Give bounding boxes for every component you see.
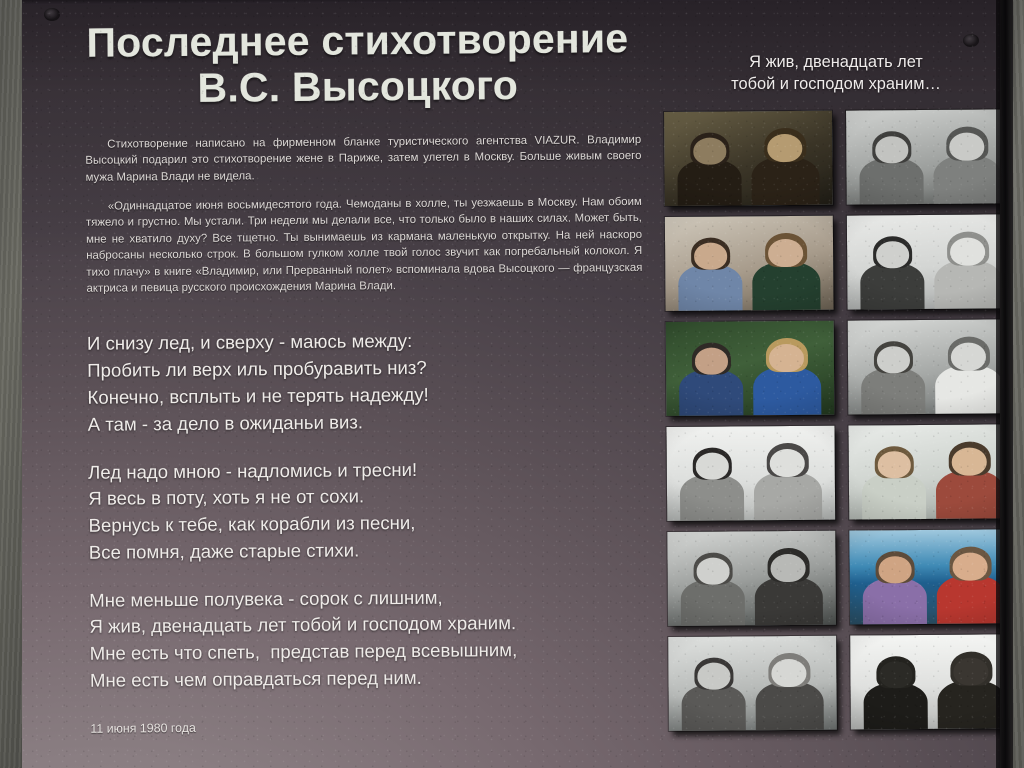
photo-image xyxy=(848,319,1000,414)
photo-bw-car-flowers xyxy=(667,531,836,626)
intro-paragraph-1: Стихотворение написано на фирменном блан… xyxy=(63,132,653,186)
panel-edge-shadow xyxy=(996,0,1013,768)
photo-image xyxy=(847,214,1000,309)
photo-image xyxy=(667,531,836,626)
exhibit-photograph: Последнее стихотворение В.С. Высоцкого С… xyxy=(0,0,1024,768)
poem-date: 11 июня 1980 года xyxy=(68,716,658,735)
photo-image xyxy=(666,426,835,521)
photo-scene xyxy=(846,109,1000,204)
poem-line: Мне есть чем оправдаться перед ним. xyxy=(90,663,658,695)
photo-vignette xyxy=(848,424,1000,519)
poem: И снизу лед, и сверху - маюсь между: Про… xyxy=(65,326,658,694)
photo-image xyxy=(664,111,833,206)
poem-line: Все помня, даже старые стихи. xyxy=(89,535,657,567)
photo-vignette xyxy=(665,216,834,311)
photo-mount xyxy=(668,636,837,731)
exhibit-board: Последнее стихотворение В.С. Высоцкого С… xyxy=(22,0,1000,768)
photo-vignette xyxy=(849,529,1000,624)
photo-color-seaside xyxy=(849,529,1000,624)
photo-mount xyxy=(847,214,1000,309)
photo-bw-by-the-house xyxy=(848,319,1000,414)
photo-mount xyxy=(667,531,836,626)
photo-image xyxy=(668,636,837,731)
photo-mount xyxy=(846,109,1000,204)
photo-heading-line-1: Я жив, двенадцать лет xyxy=(749,53,923,71)
photo-scene xyxy=(667,531,836,626)
page-title: Последнее стихотворение В.С. Высоцкого xyxy=(62,0,653,113)
photo-bw-paris-eiffel xyxy=(668,636,837,731)
photo-grid xyxy=(664,109,1000,731)
photo-scene xyxy=(664,111,833,206)
photo-scene xyxy=(848,424,1000,519)
photo-image xyxy=(850,634,1000,729)
photo-vignette xyxy=(667,531,836,626)
photo-section-heading: Я жив, двенадцать лет тобой и господом х… xyxy=(652,0,1000,96)
photo-scene xyxy=(849,529,1000,624)
photo-mount xyxy=(848,319,1000,414)
photo-color-living-room xyxy=(665,216,834,311)
photo-mount xyxy=(664,111,833,206)
photo-mount xyxy=(850,634,1000,729)
photo-color-outdoors xyxy=(666,321,835,416)
photo-bw-interview xyxy=(846,109,1000,204)
photo-vignette xyxy=(666,321,835,416)
poem-stanza: Лед надо мною - надломись и тресни! Я ве… xyxy=(88,454,657,566)
photo-scene xyxy=(668,636,837,731)
photo-vignette xyxy=(850,634,1000,729)
photo-sepia-kiss xyxy=(664,111,833,206)
photo-scene xyxy=(847,214,1000,309)
mounting-screw-icon xyxy=(44,8,60,21)
photo-scene xyxy=(666,321,835,416)
photo-scene xyxy=(848,319,1000,414)
photo-scene xyxy=(850,634,1000,729)
page-title-line-1: Последнее стихотворение xyxy=(86,15,628,66)
poem-stanza: Мне меньше полувека - сорок с лишним, Я … xyxy=(89,582,658,694)
photo-bw-silhouettes xyxy=(850,634,1000,729)
photo-vignette xyxy=(664,111,833,206)
intro-paragraph-2: «Одиннадцатое июня восьмидесятого года. … xyxy=(64,194,655,298)
photo-scene xyxy=(665,216,834,311)
photo-vignette xyxy=(848,319,1000,414)
photo-vignette xyxy=(666,426,835,521)
poem-line: А там - за дело в ожиданьи виз. xyxy=(88,407,656,439)
photo-image xyxy=(666,321,835,416)
photo-image xyxy=(665,216,834,311)
text-column: Последнее стихотворение В.С. Высоцкого С… xyxy=(62,0,659,768)
photo-vignette xyxy=(668,636,837,731)
photo-vignette xyxy=(846,109,1000,204)
photo-mount xyxy=(665,216,834,311)
photo-heading-line-2: тобой и господом храним… xyxy=(652,74,1000,96)
photo-mount xyxy=(849,529,1000,624)
photo-image xyxy=(846,109,1000,204)
photo-bw-studio-portrait xyxy=(666,426,835,521)
photo-image xyxy=(848,424,1000,519)
page-title-line-2: В.С. Высоцкого xyxy=(63,61,653,112)
poem-stanza: И снизу лед, и сверху - маюсь между: Про… xyxy=(87,326,656,438)
photo-column: Я жив, двенадцать лет тобой и господом х… xyxy=(652,0,1000,768)
photo-scene xyxy=(666,426,835,521)
photo-color-portrait-pair xyxy=(848,424,1000,519)
photo-mount xyxy=(666,426,835,521)
photo-vignette xyxy=(847,214,1000,309)
photo-mount xyxy=(848,424,1000,519)
photo-mount xyxy=(666,321,835,416)
photo-image xyxy=(849,529,1000,624)
photo-bw-embrace xyxy=(847,214,1000,309)
